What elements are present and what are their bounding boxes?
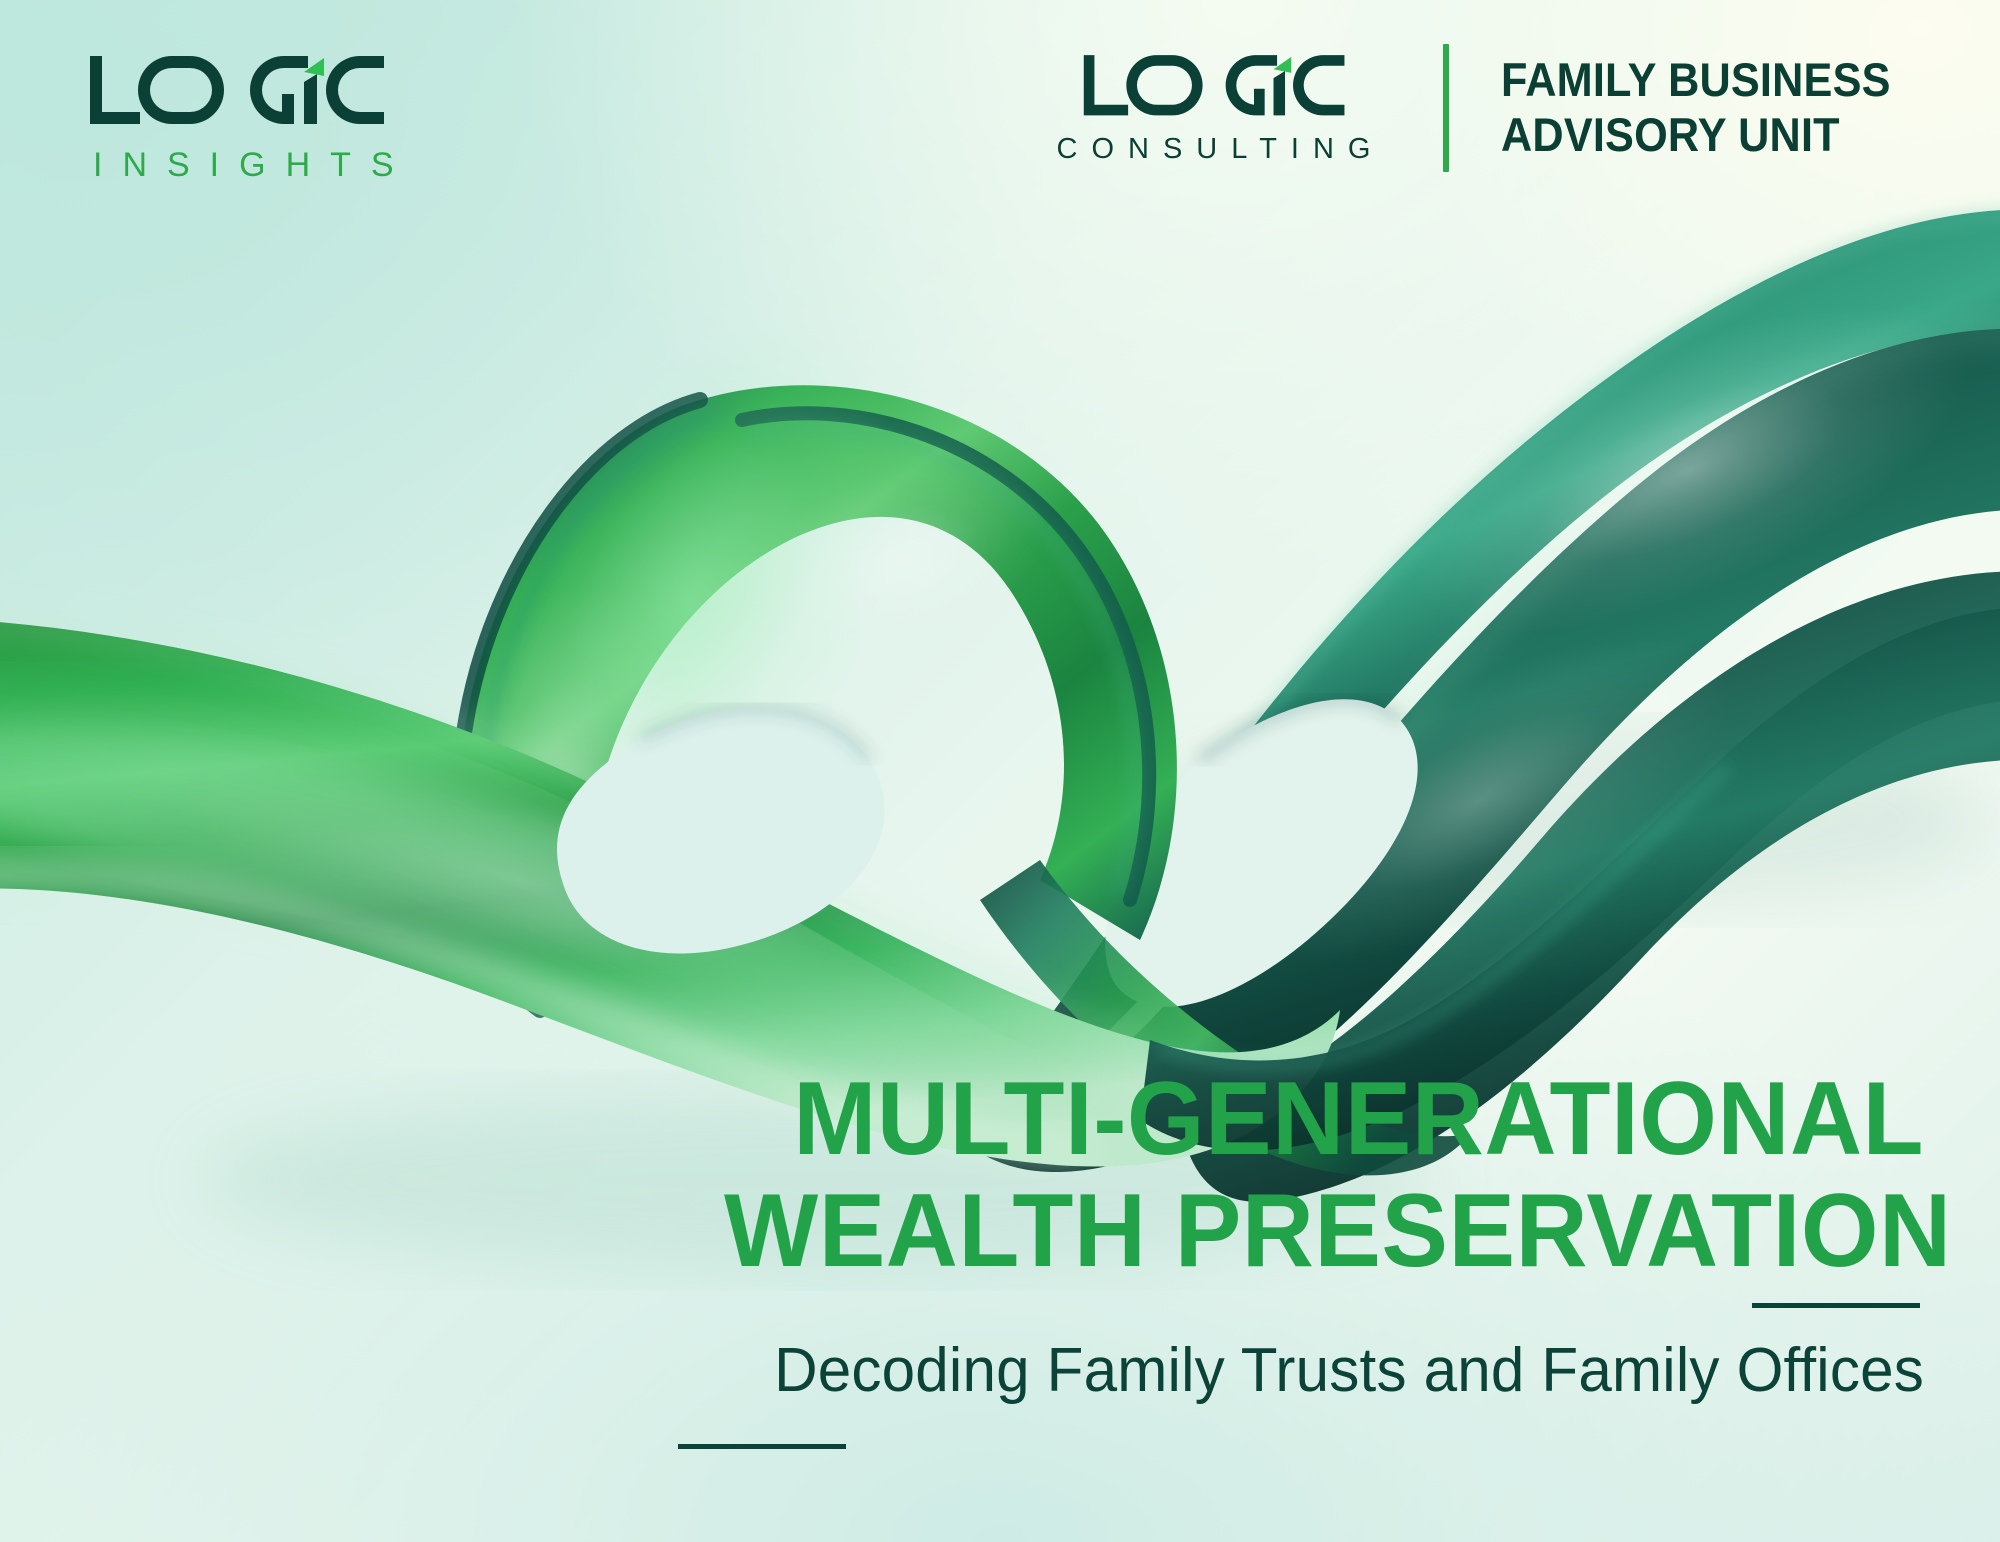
page-title-line-2: WEALTH PRESERVATION xyxy=(724,1176,1924,1287)
logic-consulting-brand[interactable]: CONSULTING xyxy=(1045,51,1385,166)
logic-wordmark-icon xyxy=(88,52,388,132)
page-title-line-1: MULTI-GENERATIONAL xyxy=(724,1064,1924,1175)
logo-insights-tagline: INSIGHTS xyxy=(88,146,414,185)
title-block: MULTI-GENERATIONAL WEALTH PRESERVATION D… xyxy=(674,1064,1924,1454)
page-subtitle: Decoding Family Trusts and Family Office… xyxy=(712,1335,1925,1406)
logo-divider xyxy=(1443,44,1449,172)
title-accent-rule-bottom xyxy=(678,1444,846,1449)
logo-consulting-subtitle: CONSULTING xyxy=(1045,133,1385,166)
title-accent-rule-top xyxy=(1752,1303,1920,1308)
unit-name-line-2: ADVISORY UNIT xyxy=(1501,108,1891,163)
cover-slide: INSIGHTS CONSULTING F xyxy=(0,0,2000,1542)
subtitle-rule-wrapper xyxy=(674,1406,1924,1454)
logic-wordmark-icon xyxy=(1082,51,1348,123)
unit-name-line-1: FAMILY BUSINESS xyxy=(1501,53,1891,108)
unit-name: FAMILY BUSINESS ADVISORY UNIT xyxy=(1501,53,1925,162)
logo-logic-insights[interactable]: INSIGHTS xyxy=(88,52,414,185)
logo-logic-consulting-lockup[interactable]: CONSULTING FAMILY BUSINESS ADVISORY UNIT xyxy=(1045,44,1924,172)
header: INSIGHTS CONSULTING F xyxy=(0,0,2000,230)
